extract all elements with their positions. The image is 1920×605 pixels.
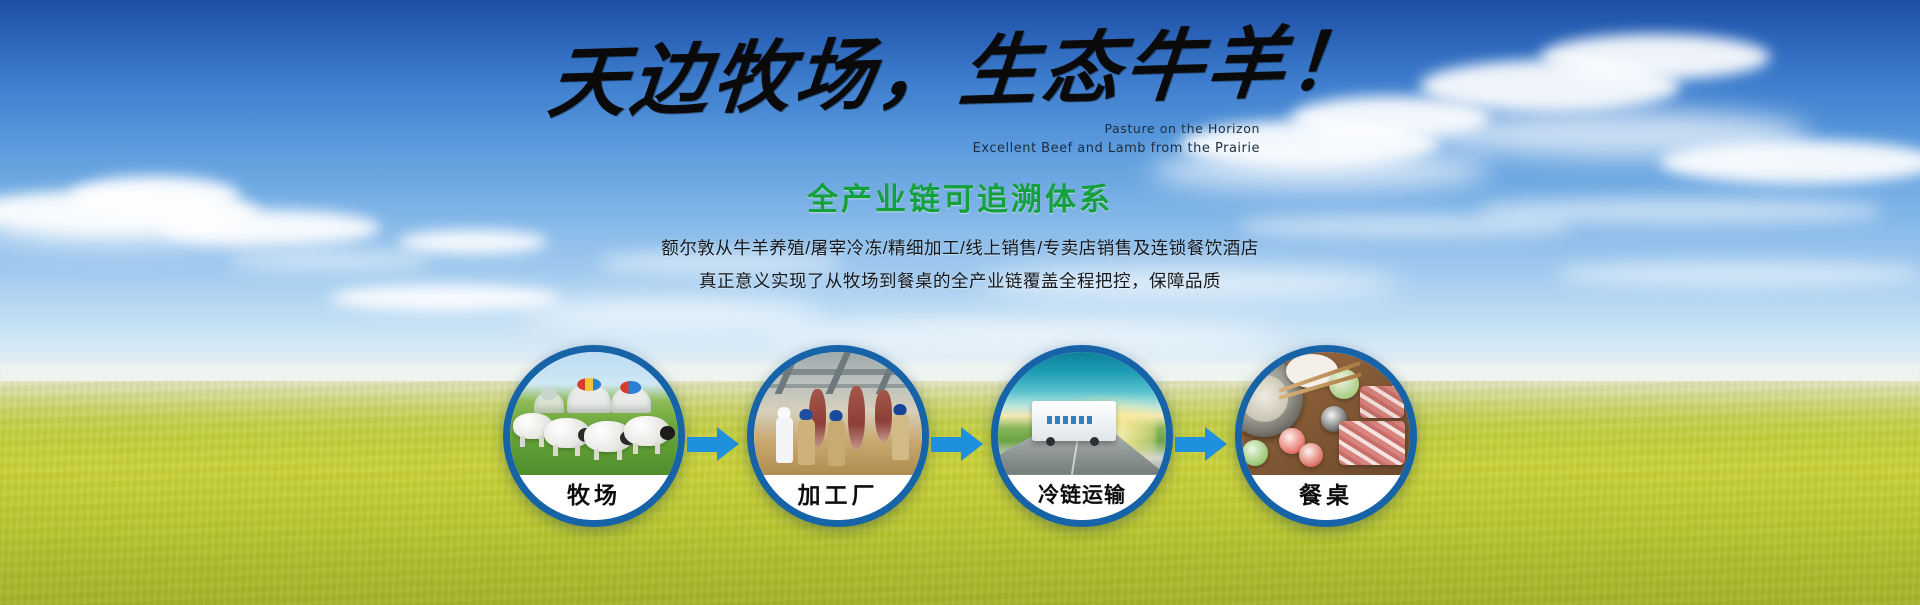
arrow-right-icon	[931, 424, 989, 464]
arrow-right-icon	[687, 424, 745, 464]
description-line-1: 额尔敦从牛羊养殖/屠宰冷冻/精细加工/线上销售/专卖店销售及连锁餐饮酒店	[661, 233, 1258, 264]
promotional-banner: 天边牧场，生态牛羊！ Pasture on the Horizon Excell…	[0, 0, 1920, 605]
headline-block: 天边牧场，生态牛羊！ Pasture on the Horizon Excell…	[0, 34, 1920, 297]
chain-node-processing-plant[interactable]: 加工厂	[747, 345, 929, 527]
supply-chain-flow: 牧场	[0, 345, 1920, 527]
meat-processing-plant-photo	[754, 352, 922, 475]
pasture-with-sheep-and-yurts-photo	[510, 352, 678, 475]
chain-node-label-text: 冷链运输	[1038, 485, 1126, 506]
chain-node-cold-chain-transport[interactable]: 冷链运输	[991, 345, 1173, 527]
english-subtitle-line-1: Pasture on the Horizon	[758, 120, 1260, 139]
chain-node-label-text: 牧场	[567, 484, 621, 507]
chain-node-label: 牧场	[510, 475, 678, 520]
brush-calligraphy-title: 天边牧场，生态牛羊！	[545, 23, 1375, 124]
english-subtitle-line-2: Excellent Beef and Lamb from the Prairie	[758, 139, 1260, 159]
refrigerated-truck-on-road-photo	[998, 352, 1166, 475]
hotpot-dining-table-photo	[1242, 352, 1410, 475]
chain-node-label-text: 餐桌	[1299, 484, 1353, 507]
chain-node-label-text: 加工厂	[798, 484, 879, 507]
chain-node-pasture[interactable]: 牧场	[503, 345, 685, 527]
description-line-2: 真正意义实现了从牧场到餐桌的全产业链覆盖全程把控，保障品质	[699, 266, 1221, 297]
chain-node-label: 餐桌	[1242, 475, 1410, 520]
chain-node-label: 冷链运输	[998, 475, 1166, 520]
chain-node-dining-table[interactable]: 餐桌	[1235, 345, 1417, 527]
arrow-right-icon	[1175, 424, 1233, 464]
green-headline: 全产业链可追溯体系	[807, 174, 1113, 219]
english-subtitle-group: Pasture on the Horizon Excellent Beef an…	[758, 120, 1278, 158]
chain-node-label: 加工厂	[754, 475, 922, 520]
